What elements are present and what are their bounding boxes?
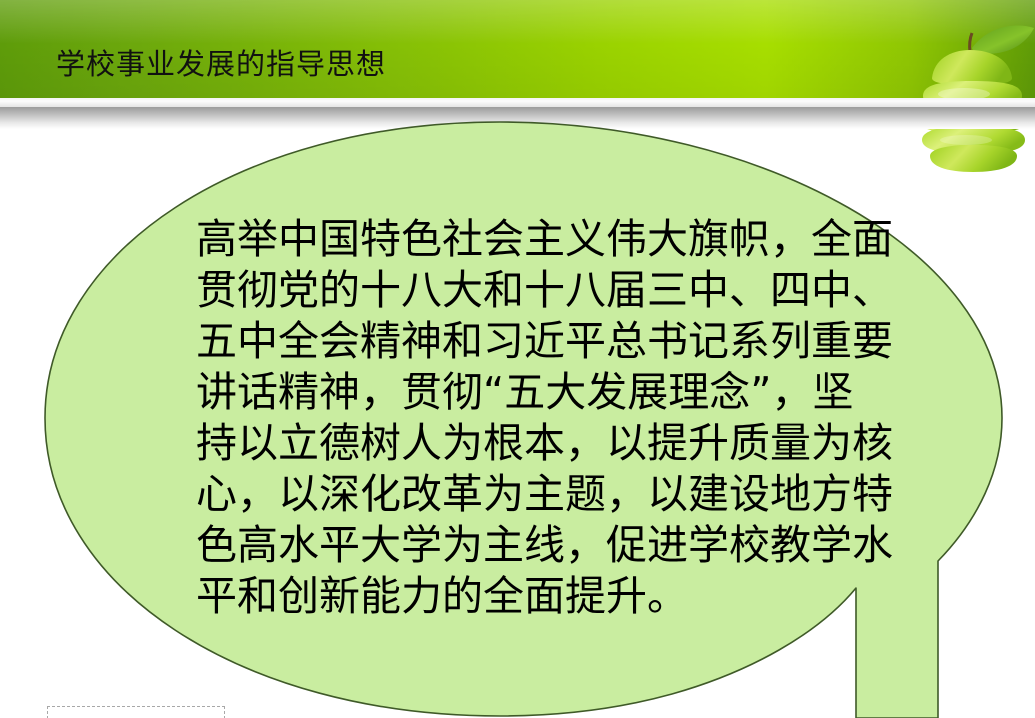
callout-line: 色高水平大学为主线，促进学校教学水 (196, 520, 856, 571)
callout-text-block: 高举中国特色社会主义伟大旗帜，全面 贯彻党的十八大和十八届三中、四中、 五中全会… (196, 214, 856, 622)
callout-line: 高举中国特色社会主义伟大旗帜，全面 (196, 214, 856, 265)
callout-line: 持以立德树人为根本，以提升质量为核 (196, 418, 856, 469)
callout-line: 讲话精神，贯彻“五大发展理念”，坚 (196, 367, 856, 418)
footer-placeholder[interactable] (47, 706, 225, 718)
callout-line: 贯彻党的十八大和十八届三中、四中、 (196, 265, 856, 316)
callout-line: 五中全会精神和习近平总书记系列重要 (196, 316, 856, 367)
slide-canvas: 学校事业发展的指导思想 高举中国特色社会主义伟大旗帜，全面 贯彻党的十八大和十八… (0, 0, 1035, 718)
callout-line: 心，以深化改革为主题，以建设地方特 (196, 469, 856, 520)
callout-line: 平和创新能力的全面提升。 (196, 571, 856, 622)
